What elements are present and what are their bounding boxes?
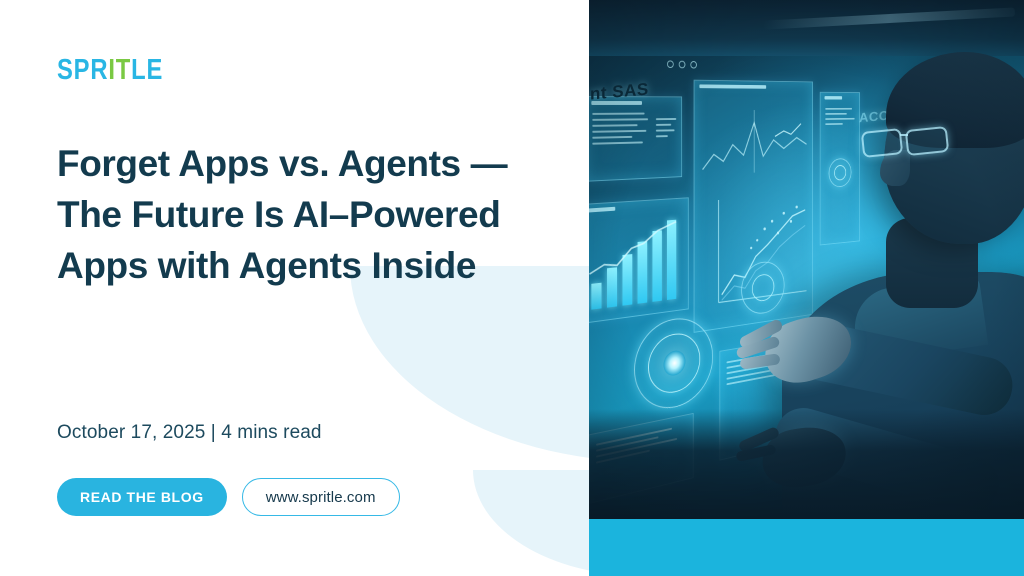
holo-panel-title-bar (699, 84, 766, 88)
glasses-icon (862, 128, 950, 158)
post-meta: October 17, 2025 | 4 mins read (57, 422, 322, 444)
holo-bar-chart-panel (589, 197, 689, 324)
holo-text-panel (589, 96, 682, 182)
holo-status-dots (667, 60, 697, 68)
logo-text-part-1: SPR (57, 54, 108, 86)
left-content-panel: SPRITLE Forget Apps vs. Agents — The Fut… (0, 0, 589, 576)
read-the-blog-button[interactable]: READ THE BLOG (57, 478, 227, 516)
decorative-circle-upper (350, 266, 589, 462)
floor-shadow (589, 409, 1024, 519)
logo-text-part-2: IT (108, 54, 131, 86)
hero-photo: nt SAS ACOMS (589, 0, 1024, 519)
cta-button-row: READ THE BLOG www.spritle.com (57, 478, 400, 516)
holo-panel-title-bar (589, 207, 615, 213)
holo-trend-line (589, 216, 681, 283)
decorative-circle-lower (473, 470, 589, 576)
page-title: Forget Apps vs. Agents — The Future Is A… (57, 138, 537, 291)
blog-promo-banner: SPRITLE Forget Apps vs. Agents — The Fut… (0, 0, 1024, 576)
website-url-button[interactable]: www.spritle.com (242, 478, 400, 516)
spritle-logo[interactable]: SPRITLE (57, 56, 163, 85)
logo-text-part-3: LE (131, 54, 163, 86)
holo-side-values (656, 118, 678, 141)
headline-line-2: The Future Is AI–Powered (57, 189, 537, 240)
ceiling-light-strip (763, 7, 1015, 29)
bottom-accent-bar (589, 519, 1024, 576)
headline-line-1: Forget Apps vs. Agents — (57, 138, 537, 189)
headline-line-3: Apps with Agents Inside (57, 240, 537, 291)
holo-text-lines (592, 113, 648, 149)
hero-image-panel: nt SAS ACOMS (589, 0, 1024, 576)
